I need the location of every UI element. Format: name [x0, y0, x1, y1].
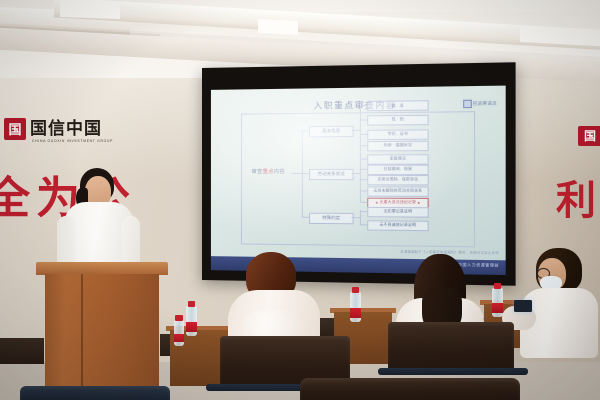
wall-logo-left: 国 国信中国: [4, 118, 102, 140]
mindmap-leaf-label: 无重大违法违纪记录: [380, 200, 417, 205]
connector-branch-2-spine: [360, 168, 361, 202]
connector-branch-3-spine: [360, 210, 361, 225]
water-bottle: [174, 320, 184, 346]
star-icon: ★: [416, 201, 421, 205]
chair-foreground[interactable]: [300, 378, 520, 400]
mindmap-branch-2: 劳动关系状况: [309, 168, 354, 180]
mindmap-leaf: 无尚未解除的劳动合同关系: [367, 187, 428, 197]
ceiling-rib-left: [60, 1, 120, 19]
root-prefix: 审查: [252, 169, 263, 175]
connector-root-stem: [292, 173, 302, 174]
slide-logo-text: 招退聘请选: [473, 100, 497, 107]
projection-screen-surface: 入职重点审查内容 招退聘请选 审查重点内容 基本信息: [211, 86, 506, 261]
podium-front-panel: [45, 274, 159, 400]
chair-back: [388, 322, 514, 372]
brand-name-chinese: 国信中国: [30, 121, 102, 138]
mindmap-branch-1: 基本信息: [309, 125, 354, 137]
connector-branch-1-out: [352, 130, 360, 131]
water-bottle: [492, 288, 503, 317]
water-bottle: [350, 292, 361, 322]
wall-slogan-right: 利: [556, 168, 600, 226]
mindmap-leaf: 社保缴纳、档案: [367, 165, 428, 175]
chair-back: [20, 386, 170, 400]
root-suffix: 内容: [274, 169, 285, 175]
slide: 入职重点审查内容 招退聘请选 审查重点内容 基本信息: [211, 86, 506, 261]
attendee-far-right: [520, 248, 600, 358]
bottle-cap: [175, 315, 182, 320]
brand-mark-icon-right: 国: [578, 126, 600, 146]
bottle-label: [492, 303, 503, 313]
mindmap-frame: 审查重点内容 基本信息 姓 名 性 别 学历、证书: [241, 111, 475, 247]
chair-rail-front-right: [378, 368, 528, 375]
water-bottle: [186, 306, 197, 336]
smartphone[interactable]: [514, 300, 532, 312]
slide-corner-logo: 招退聘请选: [463, 99, 497, 108]
mindmap-leaf: 无竞业限制、保密协议: [367, 175, 428, 185]
brand-name-english: CHINA GUOXIN INVESTMENT GROUP: [32, 139, 113, 143]
mindmap-leaf: 年龄 · 婚姻状况: [367, 141, 428, 151]
connector-branch-2-out: [352, 173, 360, 174]
bottle-label: [186, 322, 197, 332]
conference-room-photo: 国 国信中国 CHINA GUOXIN INVESTMENT GROUP 全为公…: [0, 0, 600, 400]
mindmap-leaf: 无不良诚信记录证明: [367, 220, 428, 230]
mindmap-leaf: 学历、证书: [367, 130, 428, 140]
mindmap-leaf: 家庭情况: [367, 154, 428, 164]
mindmap-branch-3: 特殊约定: [309, 212, 354, 224]
mindmap-root: 审查重点内容: [246, 169, 291, 175]
connector-branch-1-spine: [360, 105, 361, 171]
bottle-cap: [188, 301, 196, 307]
connector-branch-3-out: [352, 217, 360, 218]
bottle-cap: [352, 287, 360, 293]
ceiling-rib-mid: [258, 19, 298, 35]
chair-foreground-left[interactable]: [20, 386, 170, 400]
mindmap-leaf: 性 别: [367, 115, 428, 125]
chair-back: [300, 378, 520, 400]
mindmap-leaf: 姓 名: [367, 100, 428, 111]
bottle-label: [174, 334, 184, 343]
brand-mark-icon: 国: [4, 118, 26, 140]
bottle-label: [350, 308, 361, 318]
root-highlight: 重点: [263, 169, 274, 175]
bottle-cap: [494, 283, 502, 289]
podium: [36, 262, 168, 400]
mindmap-leaf: 无犯罪记录证明: [367, 207, 428, 217]
slide-logo-square-icon: [463, 100, 472, 108]
